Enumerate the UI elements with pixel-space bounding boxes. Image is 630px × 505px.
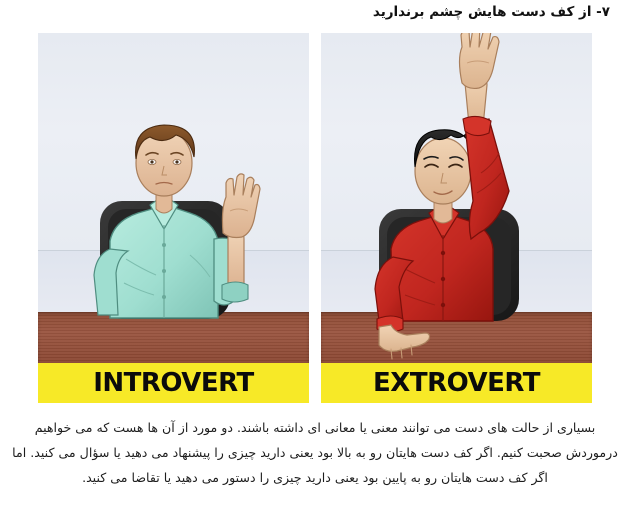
paragraph-line-3: اگر کف دست هایتان رو به پایین بود یعنی د…	[8, 465, 622, 490]
introvert-head	[136, 125, 195, 213]
page-title: ۷- از کف دست هایش چشم برندارید	[373, 4, 610, 20]
illustration-panel-introvert: INTROVERT	[38, 33, 309, 403]
extrovert-raised-arm	[460, 33, 510, 239]
illustration-panel-extrovert: EXTROVERT	[321, 33, 592, 403]
introvert-raised-hand	[222, 174, 260, 302]
extrovert-figure	[321, 33, 592, 363]
paragraph-line-2: درموردش صحبت کنیم. اگر کف دست هایتان رو …	[8, 440, 622, 465]
body-paragraph: بسیاری از حالت های دست می توانند معنی یا…	[8, 415, 622, 490]
paragraph-line-1: بسیاری از حالت های دست می توانند معنی یا…	[8, 415, 622, 440]
illustration-row: INTROVERT	[38, 33, 592, 403]
caption-label-extrovert: EXTROVERT	[373, 370, 540, 396]
caption-label-introvert: INTROVERT	[93, 370, 254, 396]
introvert-figure	[38, 33, 309, 363]
page-header: ۷- از کف دست هایش چشم برندارید	[0, 0, 630, 24]
caption-band-introvert: INTROVERT	[38, 363, 309, 403]
caption-band-extrovert: EXTROVERT	[321, 363, 592, 403]
